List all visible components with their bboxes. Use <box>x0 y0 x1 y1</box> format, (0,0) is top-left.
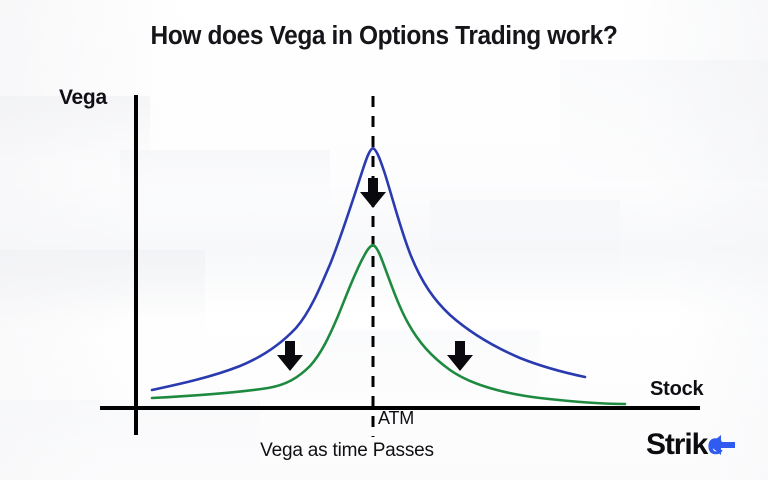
y-axis-label: Vega <box>59 86 107 110</box>
peak-decay-arrow <box>360 178 386 208</box>
chart-caption: Vega as time Passes <box>0 440 731 462</box>
left-wing-decay-arrow <box>277 341 303 371</box>
left-arrow-icon <box>709 433 735 457</box>
x-axis-label: Stock <box>650 378 703 401</box>
atm-label: ATM <box>378 408 414 429</box>
strike-logo[interactable]: Strike <box>646 428 758 462</box>
infographic-canvas: How does Vega in Options Trading work? V… <box>0 0 768 480</box>
logo-text-dark: Strik <box>646 428 707 461</box>
vega-curve-short-expiry <box>152 245 625 404</box>
right-wing-decay-arrow <box>447 341 473 371</box>
